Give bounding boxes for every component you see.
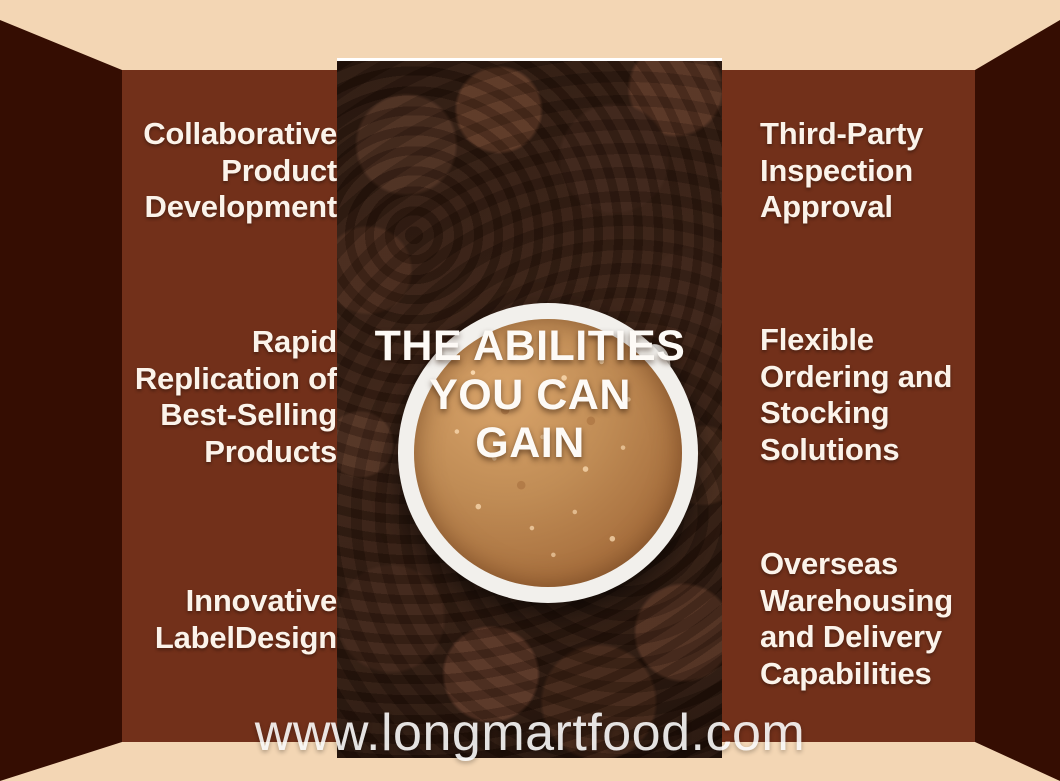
page-title: THE ABILITIES YOU CAN GAIN: [0, 322, 1060, 468]
website-watermark: www.longmartfood.com: [0, 703, 1060, 763]
feature-item: Third-Party Inspection Approval: [760, 116, 978, 226]
headline-line-2: YOU CAN: [0, 371, 1060, 420]
headline-line-3: GAIN: [0, 419, 1060, 468]
feature-item: Overseas Warehousing and Delivery Capabi…: [760, 546, 978, 692]
headline-line-1: THE ABILITIES: [0, 322, 1060, 371]
feature-item: Collaborative Product Development: [122, 116, 337, 226]
feature-item: Innovative LabelDesign: [122, 583, 337, 656]
promo-graphic: Collaborative Product Development Rapid …: [0, 0, 1060, 781]
